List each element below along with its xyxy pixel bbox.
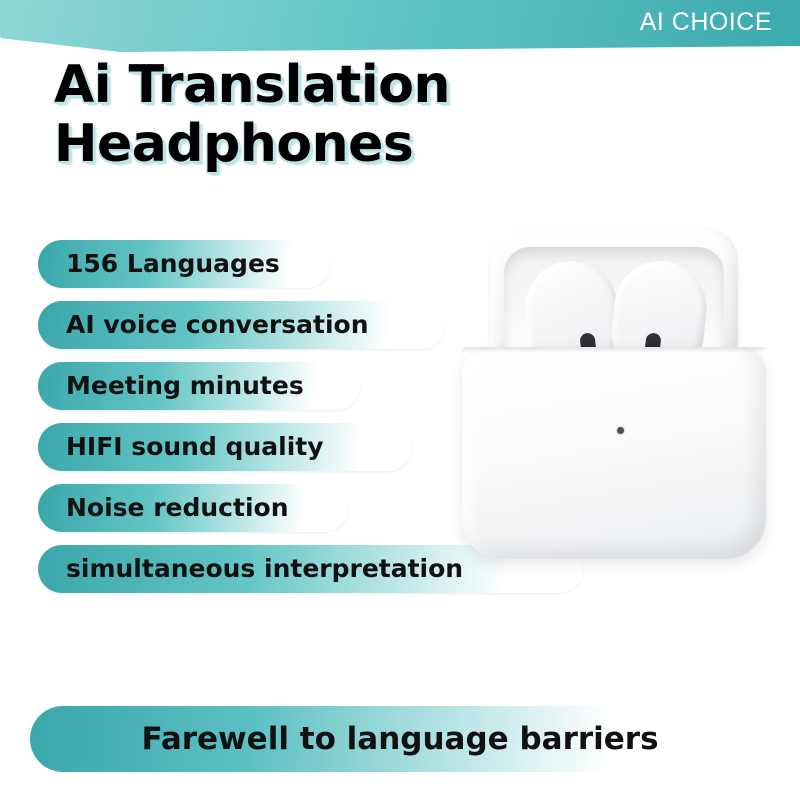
status-led-icon <box>617 427 624 434</box>
feature-pill-3: Meeting minutes <box>38 362 360 410</box>
top-banner: AI CHOICE <box>0 0 800 62</box>
footer-tagline: Farewell to language barriers <box>30 706 770 772</box>
page-title-line-2: Headphones <box>54 115 450 174</box>
feature-pill-4: HIFI sound quality <box>38 423 412 471</box>
product-image <box>452 215 782 615</box>
charging-case-seam <box>462 347 766 353</box>
feature-pill-5: Noise reduction <box>38 484 348 532</box>
footer-banner: Farewell to language barriers <box>30 706 770 772</box>
feature-pill-2: AI voice conversation <box>38 301 445 349</box>
brand-label: AI CHOICE <box>640 8 772 37</box>
product-poster: AI CHOICE Ai Translation Headphones 156 … <box>0 0 800 800</box>
charging-case-body <box>462 347 766 559</box>
page-title-line-1: Ai Translation <box>54 56 450 115</box>
feature-pill-1: 156 Languages <box>38 240 330 288</box>
page-title: Ai Translation Headphones <box>54 56 450 174</box>
